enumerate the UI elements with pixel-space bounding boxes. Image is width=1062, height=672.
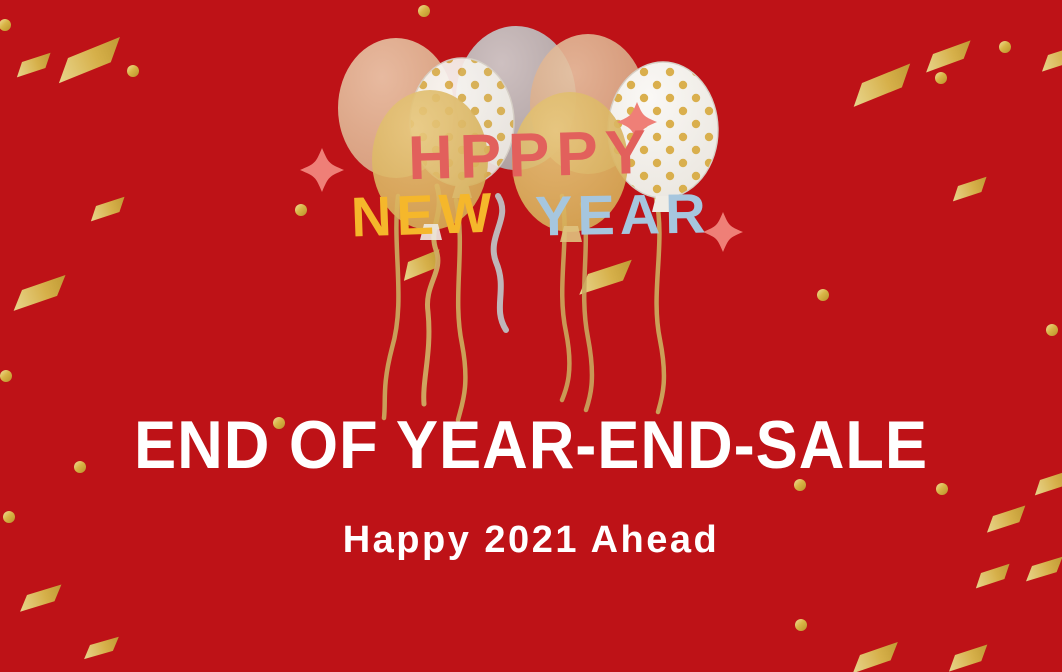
sparkle-on-balloon-icon: [617, 102, 657, 142]
sparkle-layer: [0, 0, 1062, 672]
sparkle-right-icon: [703, 212, 743, 252]
new-year-sale-banner: HPPPY NEW YEAR END OF YEAR-END-SALE Happ…: [0, 0, 1062, 672]
sparkle-left-icon: [300, 148, 344, 192]
